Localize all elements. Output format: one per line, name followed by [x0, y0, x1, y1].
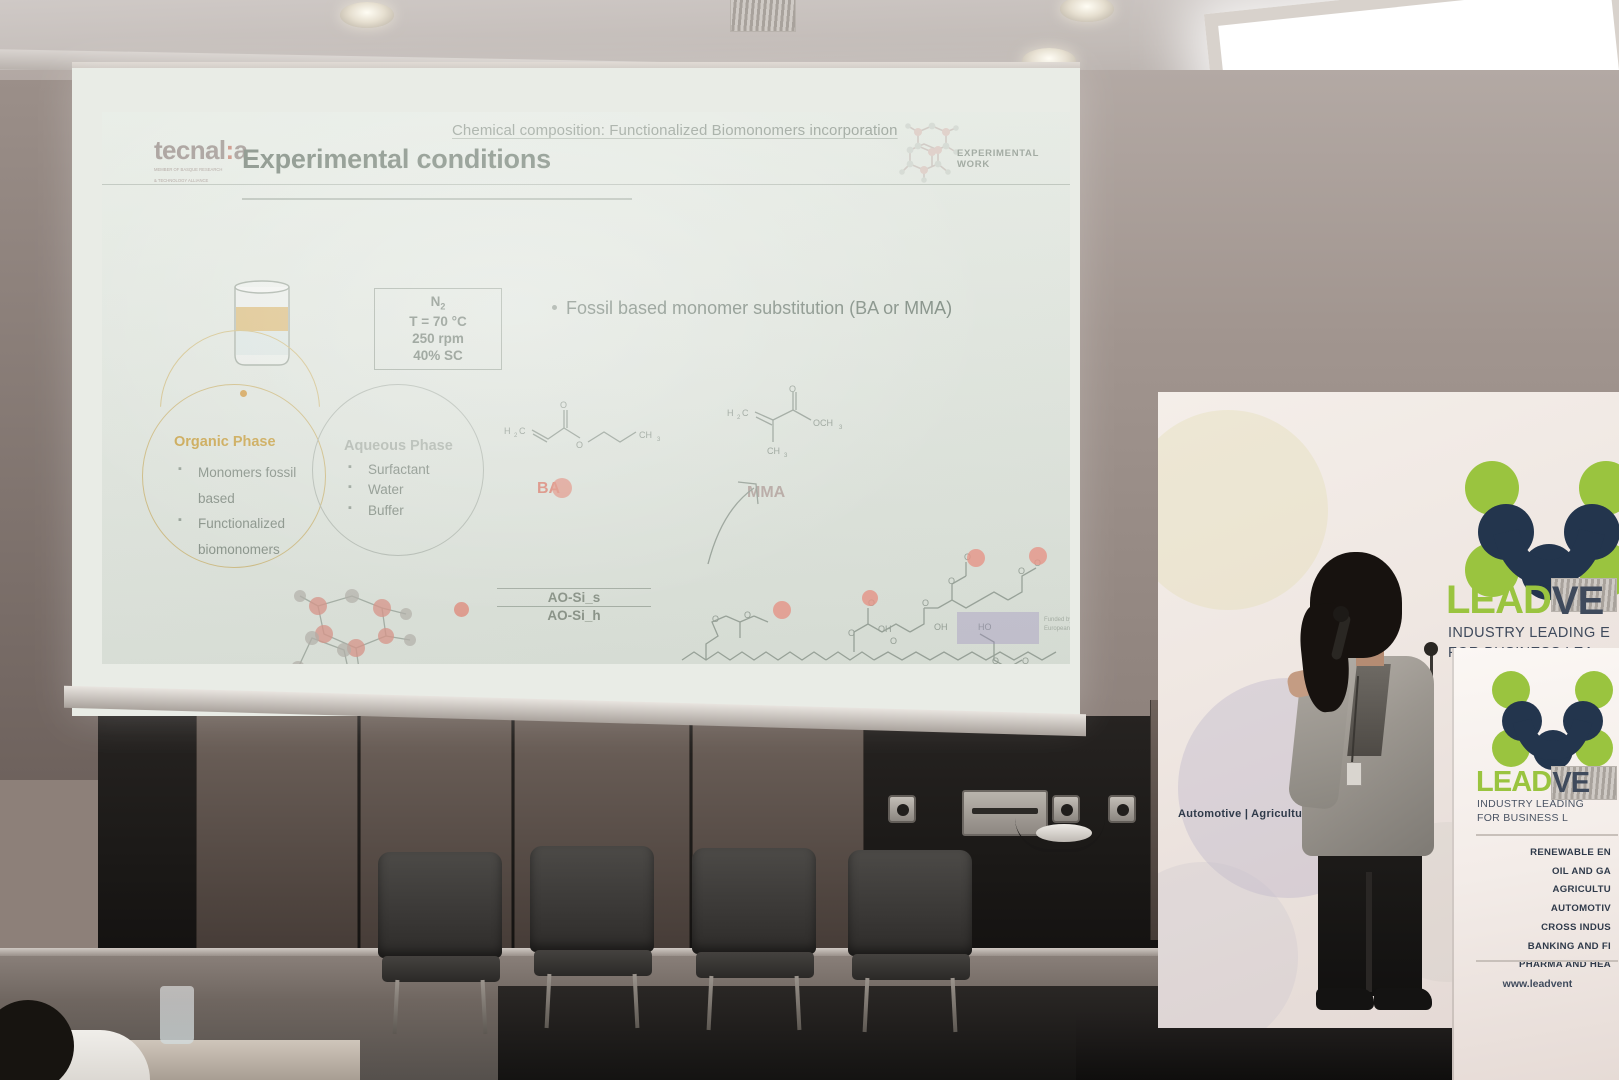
podium-tagline: INDUSTRY LEADING FOR BUSINESS L	[1477, 798, 1584, 825]
svg-text:O: O	[848, 628, 855, 638]
aqueous-phase-list: Surfactant Water Buffer	[342, 460, 492, 521]
list-item: Water	[342, 480, 492, 500]
aosi-legend-line-1: AO-Si_s	[497, 589, 651, 606]
presenter-shoe	[1316, 988, 1374, 1010]
svg-text:O: O	[890, 636, 897, 646]
conference-mic-puck[interactable]	[1036, 824, 1092, 842]
sector-item: AUTOMOTIV	[1454, 900, 1611, 919]
podium-leadvent-logo-icon	[1478, 666, 1616, 772]
condition-solids: 40% SC	[413, 348, 463, 364]
svg-text:OCH: OCH	[813, 418, 833, 428]
svg-text:O: O	[576, 440, 583, 450]
sector-item: CROSS INDUS	[1454, 919, 1611, 938]
conference-photo: Chemical composition: Functionalized Bio…	[0, 0, 1619, 1080]
list-item: Surfactant	[342, 460, 492, 480]
svg-text:3: 3	[657, 437, 661, 443]
svg-text:C: C	[742, 408, 749, 418]
tecnalia-logo-dots: :	[226, 135, 234, 165]
svg-text:O: O	[744, 610, 751, 620]
aosi-legend: AO-Si_s AO-Si_h	[497, 588, 651, 624]
projection-screen: Chemical composition: Functionalized Bio…	[72, 68, 1080, 716]
list-item: Buffer	[342, 501, 492, 521]
title-underline	[242, 198, 632, 200]
svg-text:O: O	[948, 576, 955, 586]
svg-text:O: O	[560, 400, 567, 410]
bullet-dot-icon	[552, 305, 557, 310]
presentation-slide: Chemical composition: Functionalized Bio…	[102, 112, 1070, 664]
aqueous-phase-heading: Aqueous Phase	[344, 438, 453, 454]
eu-funding-text: Funded by the European Union	[1044, 616, 1070, 634]
sector-item: OIL AND GA	[1454, 863, 1611, 882]
functionalized-biomonomer-structure: HO HO O O O O O O O O O O HO O O OH OH	[682, 548, 1062, 664]
water-glass	[160, 986, 194, 1044]
tecnalia-logo-subtitle-2: & TECHNOLOGY ALLIANCE	[154, 178, 264, 185]
podium-wordmark: LEADVE	[1476, 766, 1551, 799]
list-item: Functionalized biomonomers	[172, 511, 332, 562]
svg-text:OH: OH	[878, 624, 892, 634]
svg-text:O: O	[1018, 566, 1025, 576]
svg-text:O: O	[712, 614, 719, 624]
condition-gas: N2	[431, 294, 446, 312]
presenter-badge	[1346, 762, 1362, 786]
sector-item: RENEWABLE EN	[1454, 844, 1611, 863]
organic-phase-heading: Organic Phase	[174, 434, 276, 450]
ba-label: BA	[537, 480, 560, 498]
aosi-legend-line-2: AO-Si_h	[497, 607, 651, 624]
svg-text:H: H	[727, 408, 734, 418]
svg-text:O: O	[789, 384, 796, 394]
sector-item: BANKING AND FI	[1454, 938, 1611, 957]
ball-and-stick-model	[282, 572, 422, 664]
main-bullet-text: Fossil based monomer substitution (BA or…	[566, 298, 952, 318]
slide-title: Experimental conditions	[242, 144, 551, 175]
aosi-legend-dot-icon	[454, 602, 469, 617]
svg-text:O: O	[922, 598, 929, 608]
wall-wood-panel	[196, 712, 358, 952]
svg-text:CH: CH	[639, 430, 652, 440]
experimental-conditions-box: N2 T = 70 °C 250 rpm 40% SC	[374, 288, 502, 370]
svg-text:OH: OH	[934, 622, 948, 632]
ceiling-vent	[730, 0, 796, 32]
ba-left-label: H	[504, 426, 511, 436]
condition-temperature: T = 70 °C	[409, 314, 467, 330]
podium-divider	[1476, 834, 1618, 836]
presenter-leg-split	[1366, 872, 1372, 992]
ba-molecule-structure: H 2 C O O CH 3	[502, 394, 702, 464]
eu-flag-logo	[957, 612, 1039, 644]
svg-text:3: 3	[839, 425, 843, 431]
svg-text:2: 2	[514, 433, 518, 439]
speaker-podium: LEADVE INDUSTRY LEADING FOR BUSINESS L R…	[1452, 648, 1619, 1080]
svg-text:2: 2	[737, 415, 741, 421]
slide-kicker: Chemical composition: Functionalized Bio…	[452, 122, 898, 139]
wall-socket[interactable]	[1108, 795, 1136, 823]
ceiling-downlight	[340, 2, 394, 28]
podium-divider	[1476, 960, 1618, 962]
sector-item: AGRICULTU	[1454, 881, 1611, 900]
tecnalia-logo-word: tecnal	[154, 135, 226, 165]
ba-highlight-blob	[552, 478, 572, 498]
presenter-shoe	[1374, 988, 1432, 1010]
condition-stirring: 250 rpm	[412, 331, 464, 347]
wall-socket[interactable]	[888, 795, 916, 823]
podium-url: www.leadvent	[1454, 978, 1619, 990]
section-badge-label: EXPERIMENTAL WORK	[957, 148, 1070, 170]
brand-vent-text: VE	[1551, 578, 1617, 612]
svg-text:O: O	[1022, 656, 1029, 664]
stage-riser	[498, 986, 1158, 1080]
list-item: Monomers fossil based	[172, 460, 332, 511]
presenter	[1274, 552, 1474, 1022]
podium-sector-list: RENEWABLE EN OIL AND GA AGRICULTU AUTOMO…	[1454, 844, 1619, 975]
main-bullet: Fossil based monomer substitution (BA or…	[552, 298, 952, 319]
organic-phase-list: Monomers fossil based Functionalized bio…	[172, 460, 332, 563]
svg-text:O: O	[992, 656, 999, 664]
svg-text:C: C	[519, 426, 526, 436]
microphone-head-icon	[1333, 606, 1349, 622]
